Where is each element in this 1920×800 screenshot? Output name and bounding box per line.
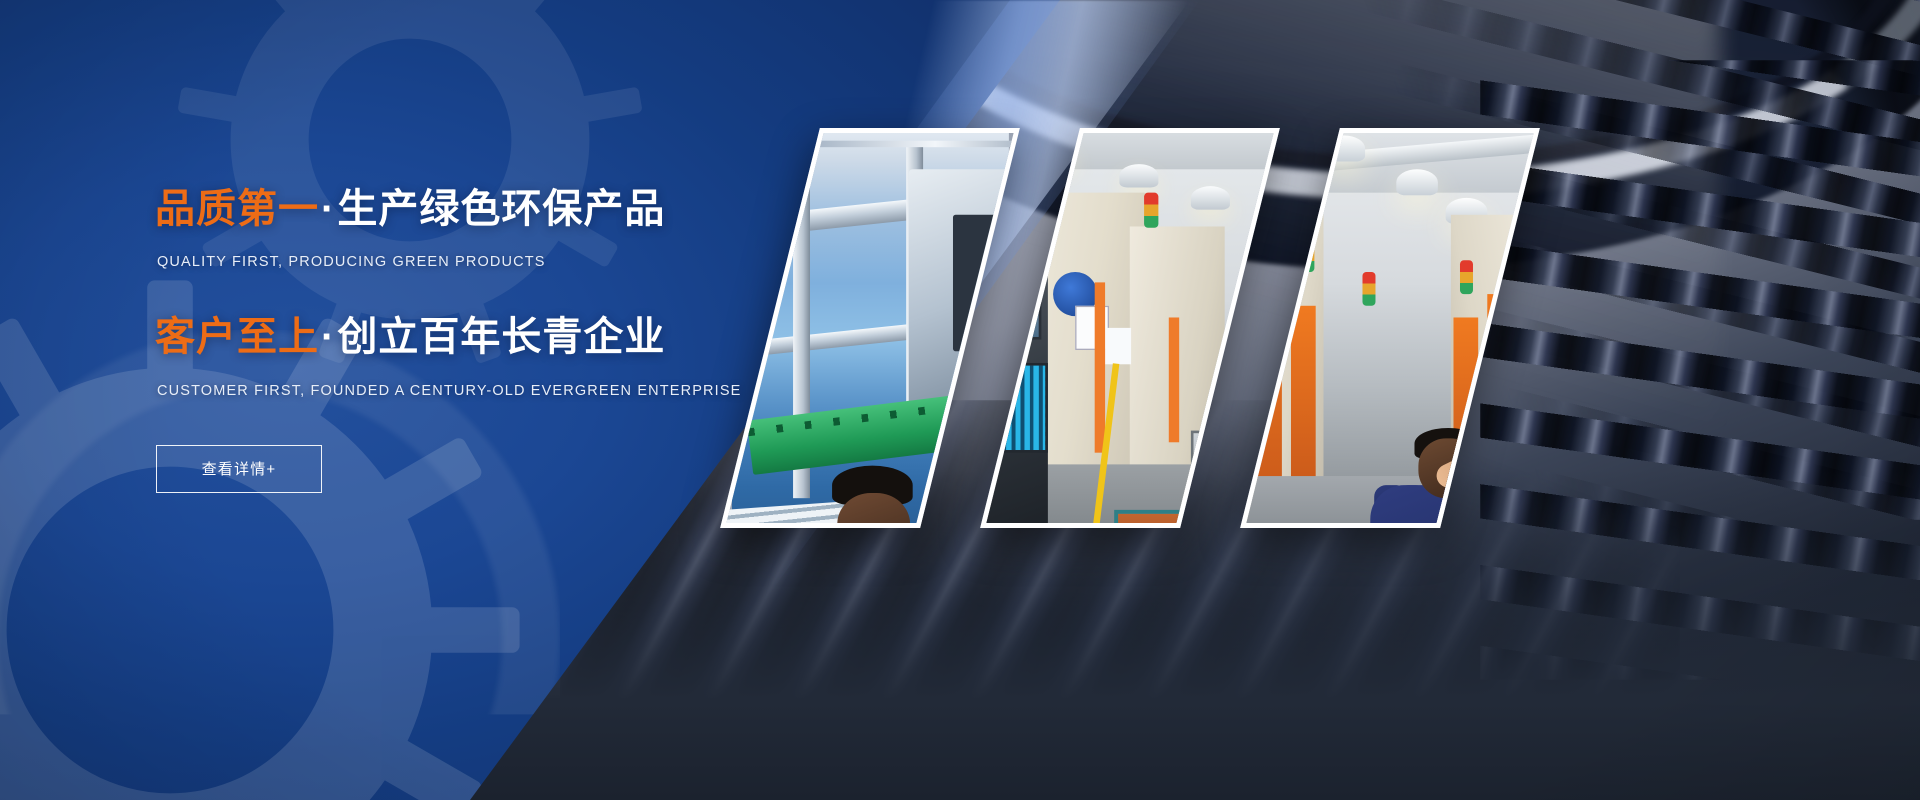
subtitle-secondary: CUSTOMER FIRST, FOUNDED A CENTURY-OLD EV… xyxy=(157,383,795,399)
headline-primary-rest: 生产绿色环保产品 xyxy=(337,187,665,231)
hero-banner: 品质第一·生产绿色环保产品 QUALITY FIRST, PRODUCING G… xyxy=(0,0,1920,800)
headline-primary: 品质第一·生产绿色环保产品 xyxy=(155,186,795,232)
headline-secondary-rest: 创立百年长青企业 xyxy=(337,315,665,359)
subtitle-primary: QUALITY FIRST, PRODUCING GREEN PRODUCTS xyxy=(157,254,795,270)
headline-primary-separator: · xyxy=(319,187,337,231)
headline-secondary-separator: · xyxy=(319,315,337,359)
photo-workshop-corridor[interactable] xyxy=(1240,128,1540,528)
headline-primary-accent: 品质第一 xyxy=(155,187,319,231)
headline-secondary: 客户至上·创立百年长青企业 xyxy=(155,314,795,360)
hero-copy: 品质第一·生产绿色环保产品 QUALITY FIRST, PRODUCING G… xyxy=(155,186,795,493)
photo-cnc-machine-image xyxy=(992,128,1269,528)
photo-cnc-machine[interactable] xyxy=(980,128,1280,528)
view-details-button[interactable]: 查看详情+ xyxy=(156,445,322,493)
headline-secondary-accent: 客户至上 xyxy=(155,315,319,359)
photo-workshop-corridor-image xyxy=(1252,128,1529,528)
